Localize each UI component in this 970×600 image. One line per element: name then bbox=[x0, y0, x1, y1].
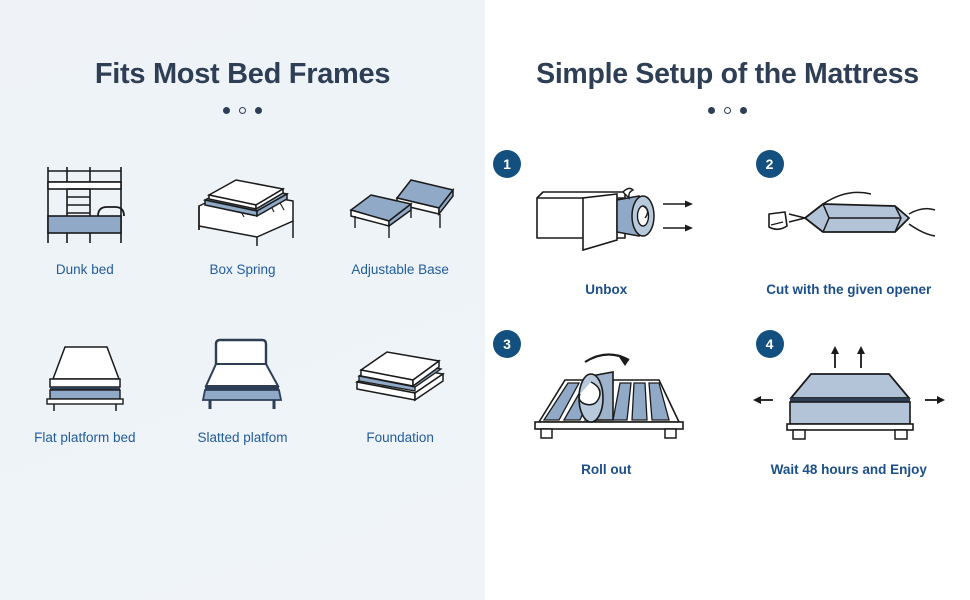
frame-item-slatted-platform[interactable]: Slatted platfom bbox=[164, 328, 322, 496]
setup-step-unbox[interactable]: 1 bbox=[485, 150, 728, 330]
frame-item-foundation[interactable]: Foundation bbox=[321, 328, 479, 496]
expanding-mattress-icon bbox=[749, 348, 949, 448]
step-label: Roll out bbox=[581, 462, 631, 477]
box-spring-icon bbox=[183, 160, 301, 252]
step-number-badge: 2 bbox=[756, 150, 784, 178]
flat-platform-bed-icon bbox=[35, 328, 135, 420]
dot-filled-2 bbox=[740, 107, 747, 114]
frame-label: Adjustable Base bbox=[351, 262, 449, 277]
bed-frames-title: Fits Most Bed Frames bbox=[0, 0, 485, 91]
dot-hollow bbox=[724, 107, 731, 114]
dot-filled-1 bbox=[223, 107, 230, 114]
setup-step-wait[interactable]: 4 bbox=[728, 330, 970, 510]
bed-frames-grid: Dunk bed bbox=[0, 160, 485, 496]
frame-item-adjustable-base[interactable]: Adjustable Base bbox=[321, 160, 479, 328]
frame-label: Foundation bbox=[366, 430, 434, 445]
slatted-platform-icon bbox=[192, 328, 292, 420]
dot-filled-1 bbox=[708, 107, 715, 114]
bunk-bed-icon bbox=[43, 160, 127, 252]
setup-steps-grid: 1 bbox=[485, 150, 970, 510]
setup-steps-panel: Simple Setup of the Mattress 1 bbox=[485, 0, 970, 600]
unbox-icon bbox=[513, 168, 699, 268]
roll-out-icon bbox=[513, 348, 699, 448]
bed-frames-dots bbox=[0, 107, 485, 114]
step-label: Cut with the given opener bbox=[766, 282, 931, 297]
step-number-badge: 4 bbox=[756, 330, 784, 358]
setup-step-cut[interactable]: 2 bbox=[728, 150, 970, 330]
setup-step-roll-out[interactable]: 3 bbox=[485, 330, 728, 510]
dot-filled-2 bbox=[255, 107, 262, 114]
step-number-badge: 1 bbox=[493, 150, 521, 178]
frame-label: Dunk bed bbox=[56, 262, 114, 277]
step-label: Unbox bbox=[585, 282, 627, 297]
bed-frames-panel: Fits Most Bed Frames bbox=[0, 0, 485, 600]
dot-hollow bbox=[239, 107, 246, 114]
step-number-badge: 3 bbox=[493, 330, 521, 358]
adjustable-base-icon bbox=[341, 160, 459, 252]
frame-item-bunk-bed[interactable]: Dunk bed bbox=[6, 160, 164, 328]
step-label: Wait 48 hours and Enjoy bbox=[771, 462, 927, 477]
setup-dots bbox=[485, 107, 970, 114]
frame-label: Box Spring bbox=[209, 262, 275, 277]
cutter-icon bbox=[749, 168, 949, 268]
foundation-icon bbox=[345, 328, 455, 420]
promo-board: Fits Most Bed Frames bbox=[0, 0, 970, 600]
frame-item-box-spring[interactable]: Box Spring bbox=[164, 160, 322, 328]
frame-item-flat-platform-bed[interactable]: Flat platform bed bbox=[6, 328, 164, 496]
setup-title: Simple Setup of the Mattress bbox=[485, 0, 970, 91]
frame-label: Flat platform bed bbox=[34, 430, 135, 445]
frame-label: Slatted platfom bbox=[197, 430, 287, 445]
